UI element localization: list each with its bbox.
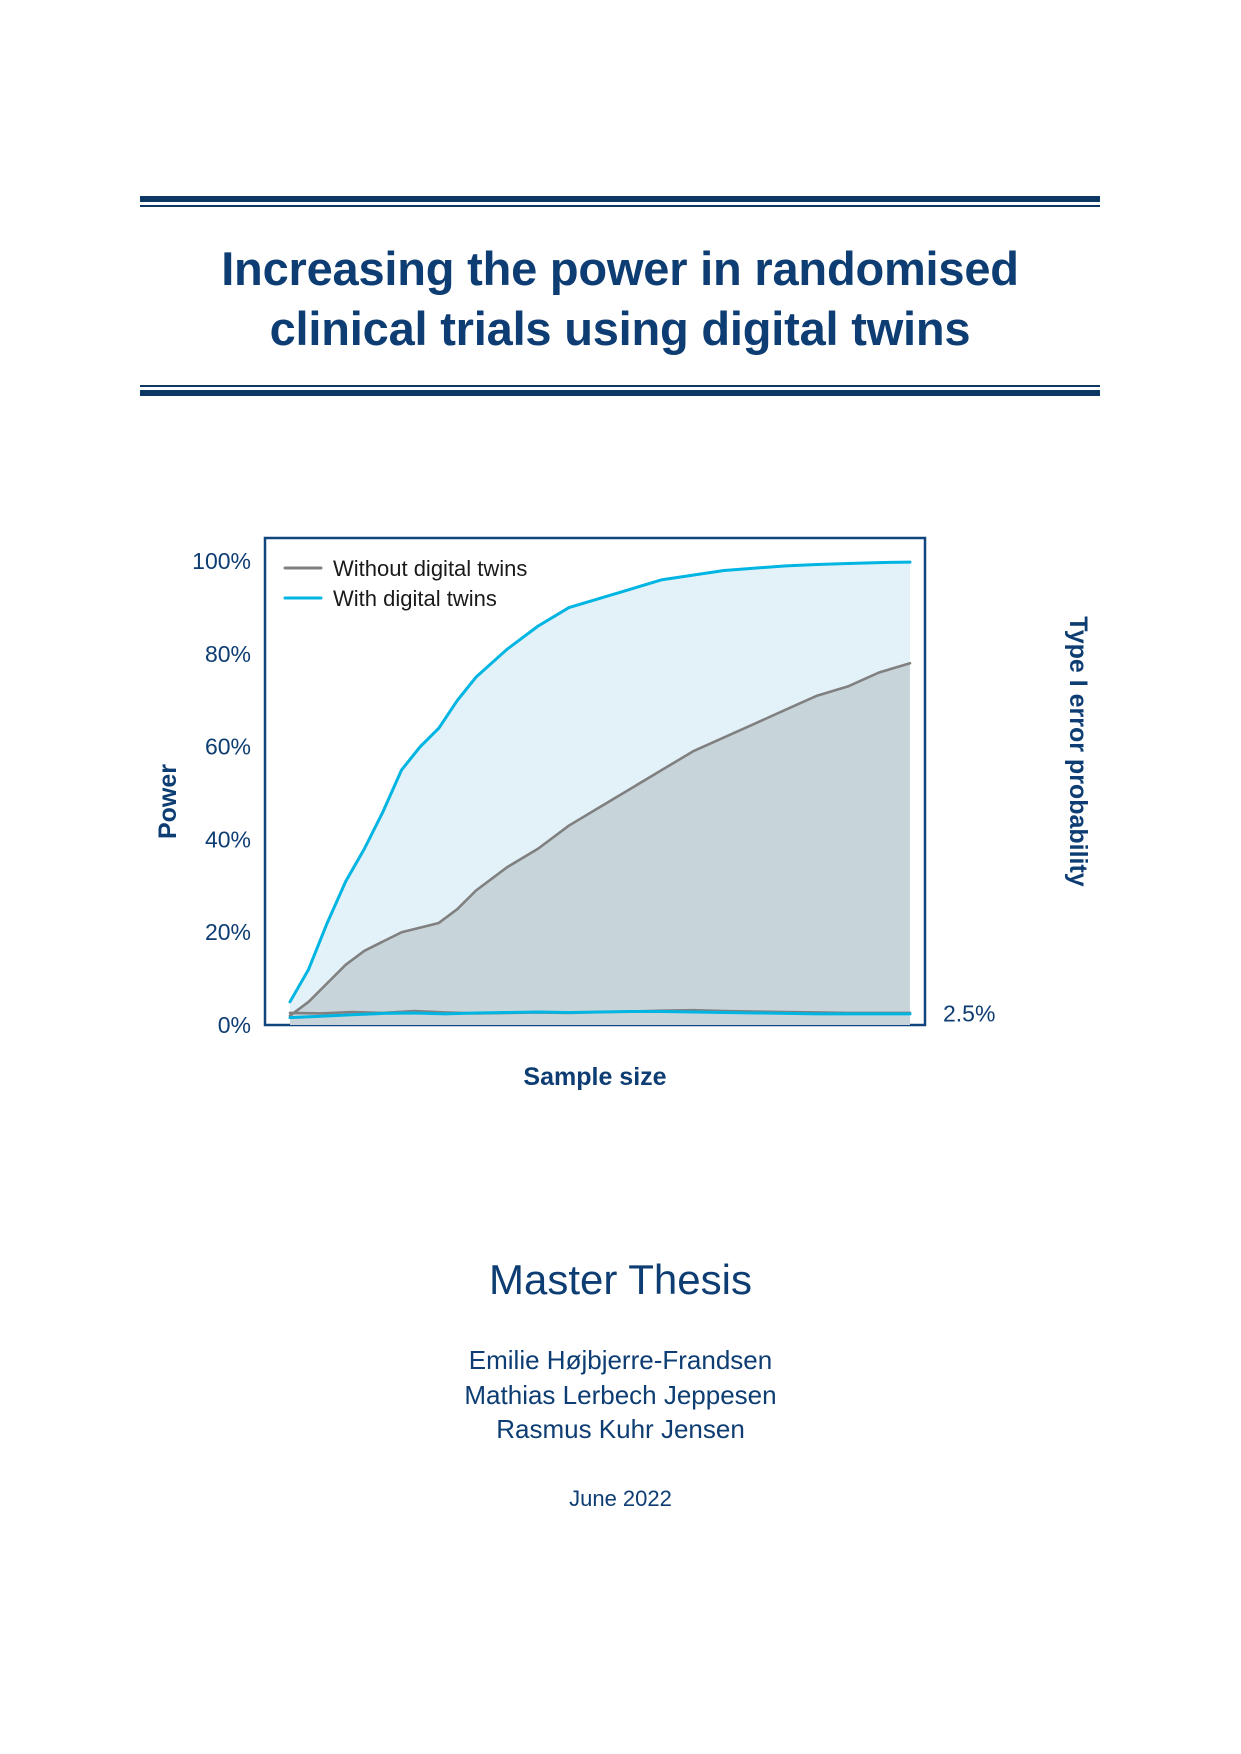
- title-top-rule-thin: [140, 205, 1100, 207]
- thesis-type: Master Thesis: [0, 1255, 1241, 1305]
- thesis-front-page: Increasing the power in randomised clini…: [0, 0, 1241, 1754]
- x-axis-title: Sample size: [523, 1063, 666, 1091]
- page-title-line-2: clinical trials using digital twins: [270, 302, 971, 355]
- y-axis-tick-label: 60%: [205, 734, 251, 760]
- y2-axis-tick-label: 2.5%: [943, 1000, 995, 1026]
- y-axis-tick-label: 20%: [205, 919, 251, 945]
- y-axis-title: Power: [154, 764, 182, 839]
- legend-label: With digital twins: [333, 586, 497, 611]
- y-axis-tick-label: 100%: [192, 548, 251, 574]
- y-axis-tick-label: 0%: [218, 1012, 251, 1038]
- footer-block: Master Thesis Emilie Højbjerre-Frandsen …: [0, 1255, 1241, 1512]
- title-block: Increasing the power in randomised clini…: [140, 196, 1100, 396]
- power-chart: 0%20%40%60%80%100%2.5%PowerType I error …: [140, 520, 1100, 1120]
- title-bottom-rule-thick: [140, 390, 1100, 396]
- y-axis-tick-label: 40%: [205, 826, 251, 852]
- author-name: Mathias Lerbech Jeppesen: [0, 1378, 1241, 1412]
- y-axis-tick-label: 80%: [205, 641, 251, 667]
- page-title: Increasing the power in randomised clini…: [140, 239, 1100, 359]
- power-figure: 0%20%40%60%80%100%2.5%PowerType I error …: [140, 520, 1100, 1120]
- author-name: Rasmus Kuhr Jensen: [0, 1412, 1241, 1446]
- y2-axis-title: Type I error probability: [1064, 616, 1092, 887]
- title-top-rule-thick: [140, 196, 1100, 202]
- legend-label: Without digital twins: [333, 556, 527, 581]
- publication-date: June 2022: [0, 1486, 1241, 1512]
- title-bottom-rule-thin: [140, 385, 1100, 387]
- page-title-line-1: Increasing the power in randomised: [221, 242, 1019, 295]
- author-name: Emilie Højbjerre-Frandsen: [0, 1343, 1241, 1377]
